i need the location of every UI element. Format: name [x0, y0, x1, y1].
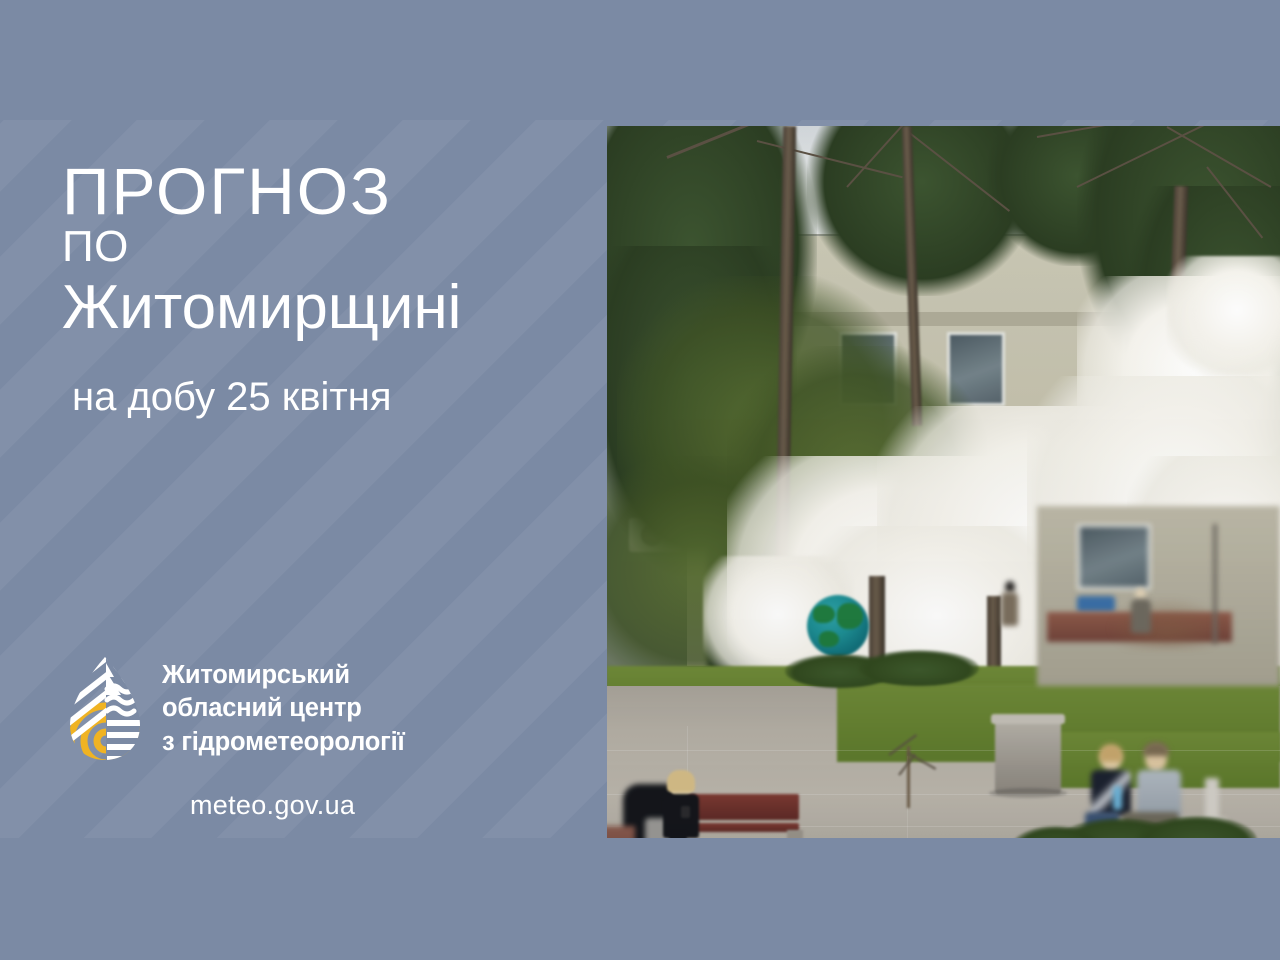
website-url[interactable]: meteo.gov.ua [190, 790, 355, 821]
headline-line-1: ПРОГНОЗ [62, 158, 392, 224]
leaf-droplet-hydromet-logo-icon [66, 655, 144, 763]
scene-photograph [607, 126, 1280, 838]
text-column: ПРОГНОЗ ПО Житомирщині на добу 25 квітня [0, 0, 610, 960]
org-name-line-2: обласний центр [162, 692, 404, 725]
organization-logo-lockup: Житомирський обласний центр з гідрометео… [66, 655, 404, 763]
organization-name: Житомирський обласний центр з гідрометео… [162, 659, 404, 758]
photo-color-grade [607, 126, 1280, 838]
org-name-line-1: Житомирський [162, 659, 404, 692]
headline-subtitle-date: на добу 25 квітня [72, 375, 392, 420]
headline-line-2: ПО [62, 225, 129, 269]
headline-line-3-region: Житомирщині [62, 277, 461, 339]
poster-canvas: ПРОГНОЗ ПО Житомирщині на добу 25 квітня [0, 0, 1280, 960]
org-name-line-3: з гідрометеорології [162, 726, 404, 759]
